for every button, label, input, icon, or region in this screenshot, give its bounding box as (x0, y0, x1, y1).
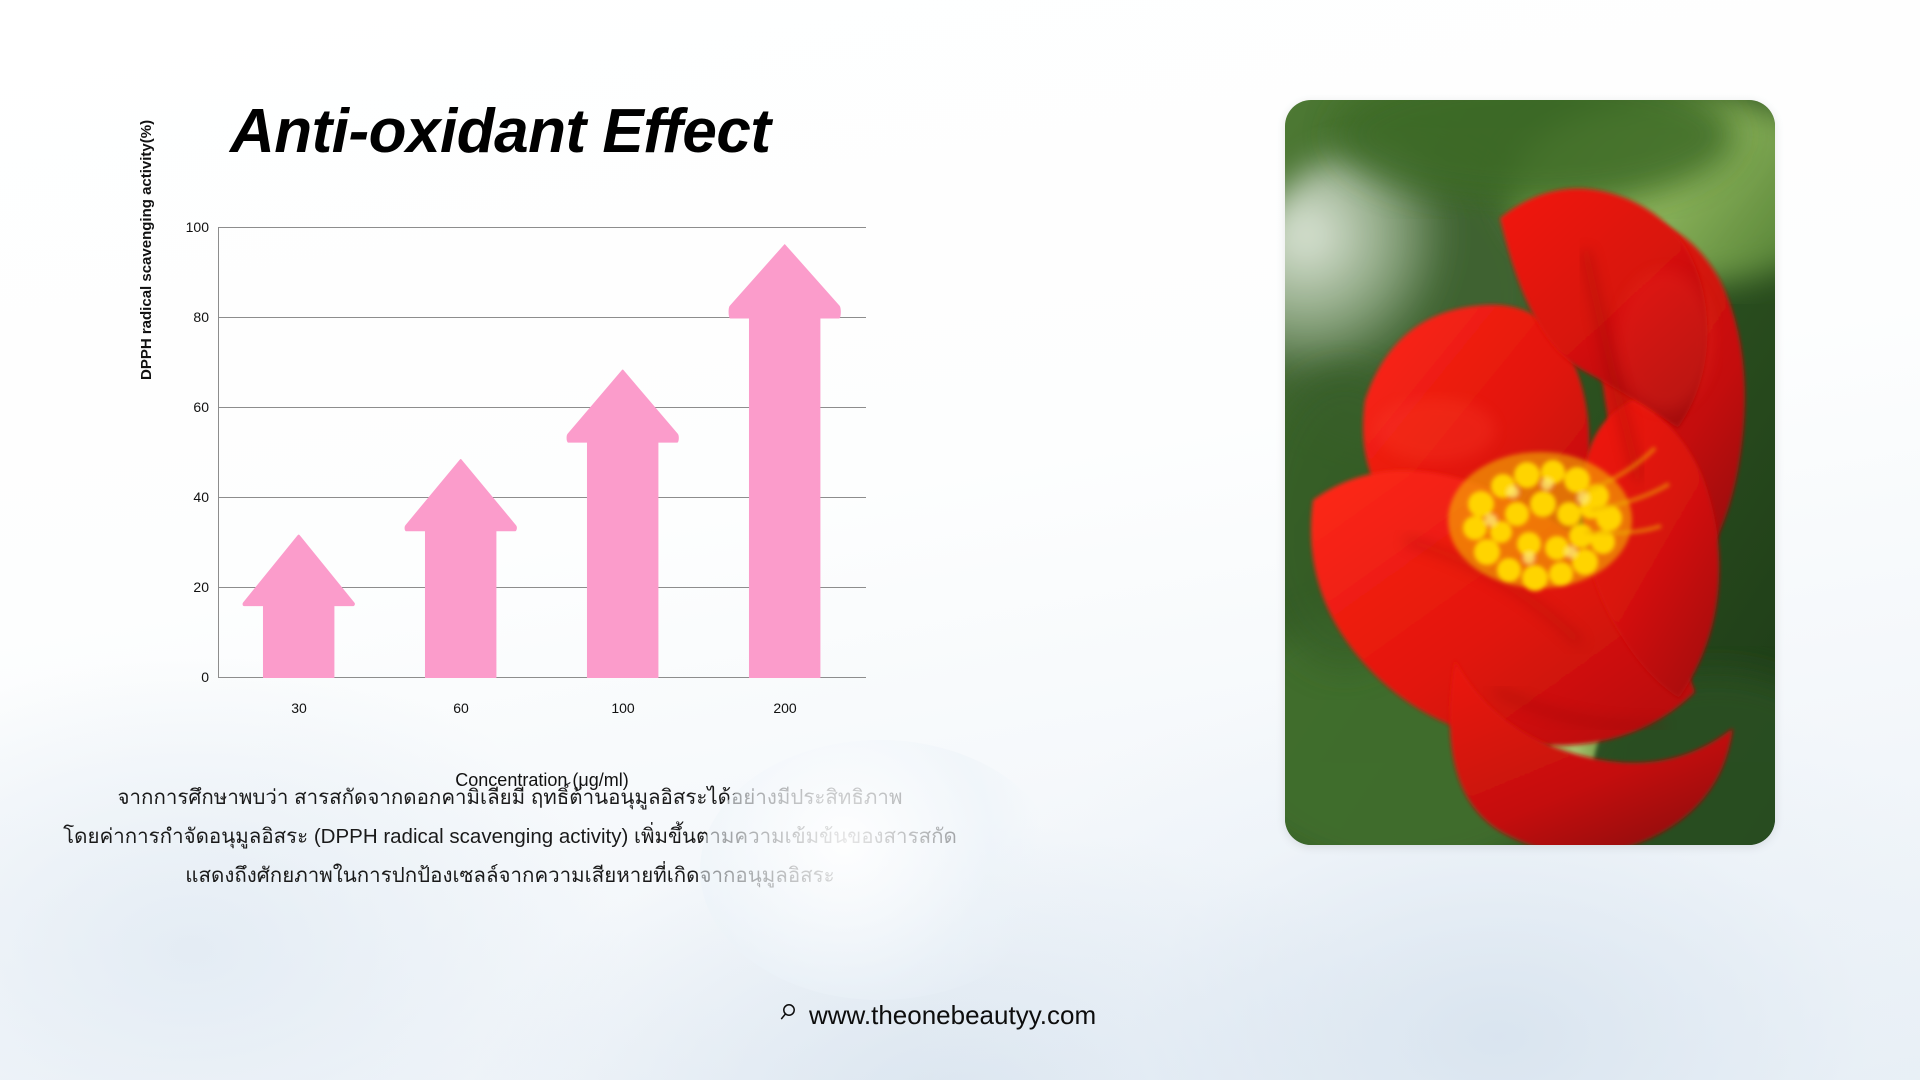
chart-y-tick-label: 20 (193, 579, 209, 595)
chart-y-axis-title: DPPH radical scavenging activity(%) (138, 80, 155, 380)
chart-y-tick-label: 40 (193, 489, 209, 505)
chart-bar: 200 (728, 228, 841, 678)
red-camellia-flower-photo (1285, 100, 1775, 845)
caption-line: จากการศึกษาพบว่า สารสกัดจากดอกคามิเลียมี… (60, 778, 960, 817)
caption-paragraph: จากการศึกษาพบว่า สารสกัดจากดอกคามิเลียมี… (60, 778, 960, 895)
search-icon (780, 1000, 802, 1031)
chart-bar: 60 (404, 228, 517, 678)
chart-bar-arrow (566, 368, 679, 679)
chart-bar-arrow (728, 242, 841, 679)
chart-bar-arrow (242, 534, 355, 678)
chart-plot-area: 020406080100 3060100200 (218, 228, 866, 678)
slide-canvas: Anti-oxidant Effect DPPH radical scaveng… (0, 0, 1920, 1080)
chart-bar: 100 (566, 228, 679, 678)
page-title: Anti-oxidant Effect (230, 96, 770, 167)
chart-bar: 30 (242, 228, 355, 678)
chart-y-tick-label: 60 (193, 399, 209, 415)
footer-website[interactable]: www.theonebeautyy.com (780, 1000, 1096, 1031)
chart-y-tick-label: 80 (193, 309, 209, 325)
chart-x-tick-label: 30 (242, 700, 355, 716)
chart-x-tick-label: 100 (566, 700, 679, 716)
website-url: www.theonebeautyy.com (809, 1000, 1096, 1031)
chart-x-tick-label: 60 (404, 700, 517, 716)
chart-bar-arrow (404, 458, 517, 679)
anti-oxidant-bar-chart: DPPH radical scavenging activity(%) 0204… (150, 210, 890, 730)
chart-y-tick-label: 0 (201, 669, 209, 685)
chart-bars: 3060100200 (218, 228, 866, 678)
caption-line: แสดงถึงศักยภาพในการปกป้องเซลล์จากความเสี… (60, 856, 960, 895)
chart-y-tick-label: 100 (186, 219, 209, 235)
chart-x-tick-label: 200 (728, 700, 841, 716)
caption-line: โดยค่าการกำจัดอนุมูลอิสระ (DPPH radical … (60, 817, 960, 856)
